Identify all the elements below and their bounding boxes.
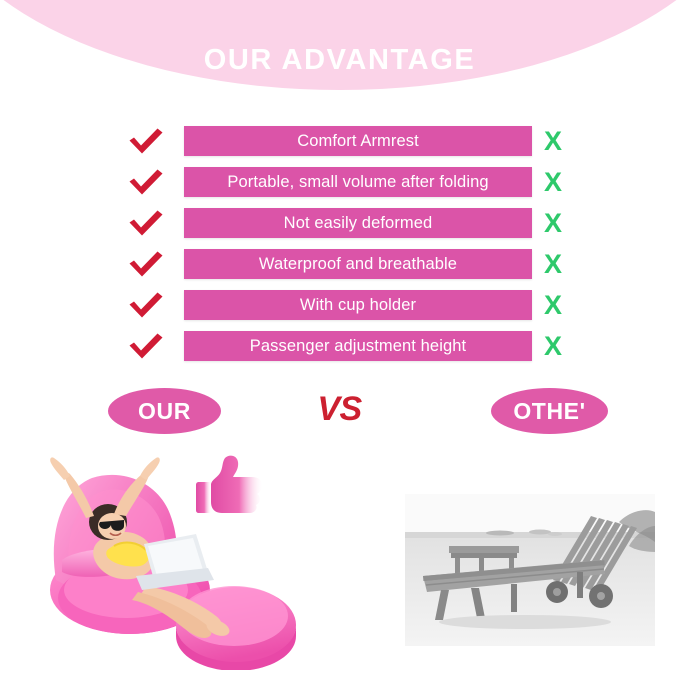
page-title: OUR ADVANTAGE xyxy=(0,44,679,77)
product-comparison-infographic: OUR ADVANTAGE Comfort Armrest X xyxy=(0,0,679,679)
feature-label: Comfort Armrest xyxy=(297,132,419,151)
feature-row: Not easily deformed X xyxy=(0,206,679,240)
feature-bar: Not easily deformed xyxy=(184,208,532,238)
feature-row: Passenger adjustment height X xyxy=(0,329,679,363)
other-cross-cell: X xyxy=(544,169,592,196)
feature-row: Portable, small volume after folding X xyxy=(0,165,679,199)
feature-bar: Portable, small volume after folding xyxy=(184,167,532,197)
feature-bar: Waterproof and breathable xyxy=(184,249,532,279)
check-mark-icon xyxy=(128,332,164,360)
cross-icon: X xyxy=(544,251,562,278)
feature-label: Passenger adjustment height xyxy=(250,337,466,356)
feature-row: Waterproof and breathable X xyxy=(0,247,679,281)
feature-label: Portable, small volume after folding xyxy=(227,173,488,192)
check-mark-icon xyxy=(128,291,164,319)
feature-comparison-list: Comfort Armrest X Portable, small volume… xyxy=(0,124,679,370)
check-mark-icon xyxy=(128,168,164,196)
feature-bar: With cup holder xyxy=(184,290,532,320)
our-check-cell xyxy=(128,168,184,196)
other-cross-cell: X xyxy=(544,333,592,360)
feature-row: With cup holder X xyxy=(0,288,679,322)
other-cross-cell: X xyxy=(544,128,592,155)
other-badge: OTHE' xyxy=(491,388,608,434)
feature-label: With cup holder xyxy=(300,296,416,315)
our-product-photo xyxy=(18,440,328,670)
other-badge-label: OTHE' xyxy=(513,398,585,425)
our-check-cell xyxy=(128,291,184,319)
versus-row: OUR VS OTHE' xyxy=(0,388,679,438)
cross-icon: X xyxy=(544,128,562,155)
check-mark-icon xyxy=(128,250,164,278)
other-cross-cell: X xyxy=(544,292,592,319)
cross-icon: X xyxy=(544,169,562,196)
our-check-cell xyxy=(128,127,184,155)
thumbs-up-icon xyxy=(195,452,273,518)
feature-label: Not easily deformed xyxy=(284,214,433,233)
our-check-cell xyxy=(128,209,184,237)
feature-bar: Comfort Armrest xyxy=(184,126,532,156)
cross-icon: X xyxy=(544,292,562,319)
cross-icon: X xyxy=(544,210,562,237)
feature-bar: Passenger adjustment height xyxy=(184,331,532,361)
feature-row: Comfort Armrest X xyxy=(0,124,679,158)
check-mark-icon xyxy=(128,127,164,155)
header-banner: OUR ADVANTAGE xyxy=(0,0,679,110)
cross-icon: X xyxy=(544,333,562,360)
other-cross-cell: X xyxy=(544,210,592,237)
check-mark-icon xyxy=(128,209,164,237)
other-cross-cell: X xyxy=(544,251,592,278)
competitor-product-photo xyxy=(405,494,655,646)
our-check-cell xyxy=(128,332,184,360)
our-check-cell xyxy=(128,250,184,278)
feature-label: Waterproof and breathable xyxy=(259,255,457,274)
